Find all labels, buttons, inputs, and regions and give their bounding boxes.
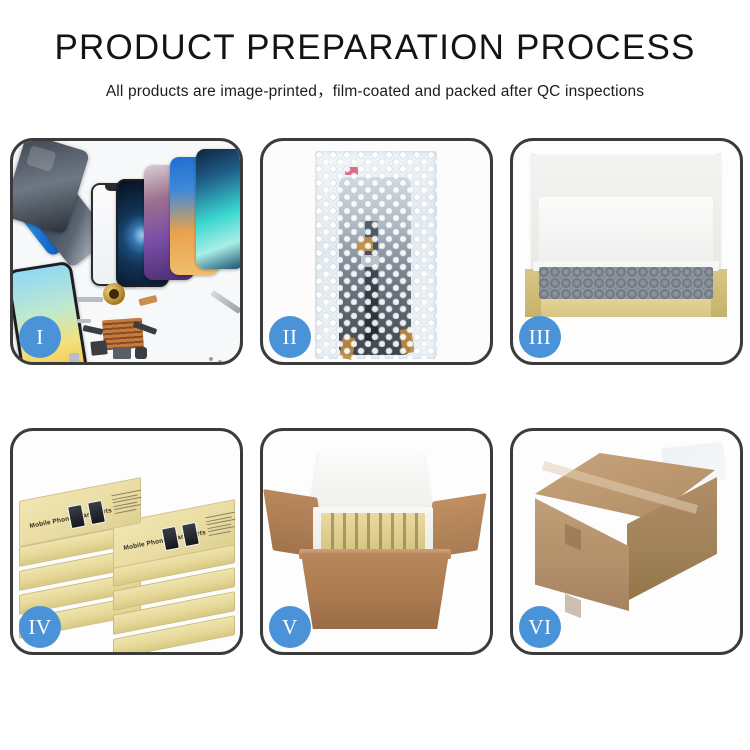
step-badge-4: IV [19, 606, 61, 648]
header: PRODUCT PREPARATION PROCESS All products… [0, 0, 750, 101]
step-badge-6: VI [519, 606, 561, 648]
battery-connector-icon [113, 347, 131, 359]
step-panel-4: Mobile Phone Spare Parts Mobile Phone Sp… [10, 428, 243, 655]
step-badge-1: I [19, 316, 61, 358]
foam-sheet-icon [539, 197, 713, 271]
step-panel-5: V [260, 428, 493, 655]
carton-bottom-tab-icon [565, 594, 581, 618]
loudspeaker-icon [90, 340, 107, 356]
process-steps-grid: I II [10, 138, 740, 655]
cardboard-carton-icon [301, 553, 449, 629]
speaker-mesh-icon [77, 297, 103, 302]
step-panel-2: II [260, 138, 493, 365]
product-preparation-infographic: PRODUCT PREPARATION PROCESS All products… [0, 0, 750, 750]
sim-tray-icon [69, 353, 79, 362]
tweezers-icon [210, 290, 240, 314]
step-badge-3: III [519, 316, 561, 358]
page-subtitle: All products are image-printed，film-coat… [0, 79, 750, 101]
page-title: PRODUCT PREPARATION PROCESS [0, 30, 750, 67]
step-panel-3: III [510, 138, 743, 365]
bubble-texture-icon [315, 151, 437, 359]
phone-screen-teal-icon [196, 149, 240, 269]
vibration-motor-icon [103, 283, 125, 305]
taptic-engine-icon [135, 347, 147, 359]
flex-cable-icon [138, 295, 157, 306]
foam-lid-icon [309, 450, 433, 514]
bubble-wrap-bag-icon [315, 151, 437, 359]
step-badge-2: II [269, 316, 311, 358]
grey-bubble-wrap-icon [539, 267, 713, 299]
step-badge-5: V [269, 606, 311, 648]
camera-module-icon [83, 325, 104, 335]
step-panel-1: I [10, 138, 243, 365]
box-lip-right-icon [711, 269, 727, 317]
bracket-icon [77, 319, 91, 323]
packed-yellow-boxes-icon [321, 513, 425, 551]
step-panel-6: VI [510, 428, 743, 655]
